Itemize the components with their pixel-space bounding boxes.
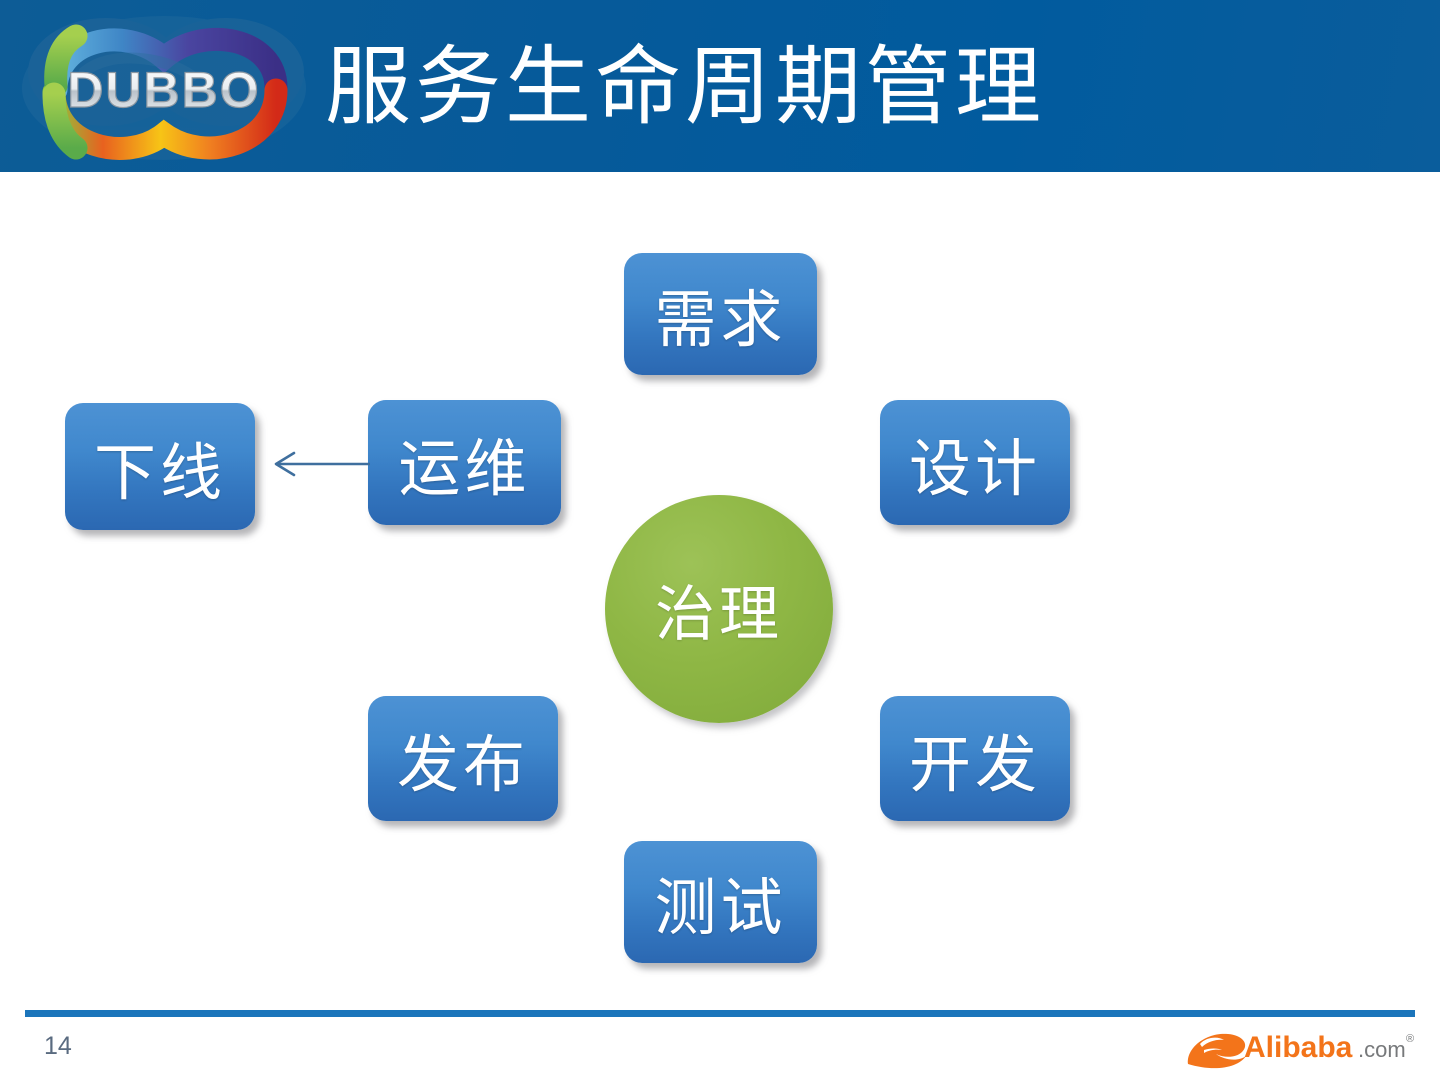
alibaba-wordmark: Alibaba xyxy=(1244,1031,1353,1064)
diagram-node-design[interactable]: 设计 xyxy=(880,400,1070,525)
diagram-node-offline[interactable]: 下线 xyxy=(65,403,255,530)
diagram-hub-governance[interactable]: 治理 xyxy=(605,495,833,723)
footer-divider xyxy=(25,1010,1415,1017)
dubbo-wordmark: DUBBO xyxy=(67,62,260,118)
page-title: 服务生命周期管理 xyxy=(325,28,1325,146)
diagram-node-development[interactable]: 开发 xyxy=(880,696,1070,821)
registered-mark: ® xyxy=(1406,1033,1414,1045)
alibaba-swoosh-icon xyxy=(1188,1034,1246,1068)
diagram-node-operations[interactable]: 运维 xyxy=(368,400,561,525)
alibaba-domain-suffix: .com xyxy=(1358,1037,1406,1062)
alibaba-logo: Alibaba .com ® xyxy=(1180,1024,1416,1074)
page-number: 14 xyxy=(44,1031,72,1061)
dubbo-logo: DUBBO xyxy=(14,6,314,170)
diagram-node-requirement[interactable]: 需求 xyxy=(624,253,817,375)
diagram-node-testing[interactable]: 测试 xyxy=(624,841,817,963)
arrow-left-icon xyxy=(262,451,372,477)
diagram-node-release[interactable]: 发布 xyxy=(368,696,558,821)
lifecycle-diagram: 需求 设计 开发 测试 发布 运维 下线 治理 xyxy=(0,175,1440,1005)
